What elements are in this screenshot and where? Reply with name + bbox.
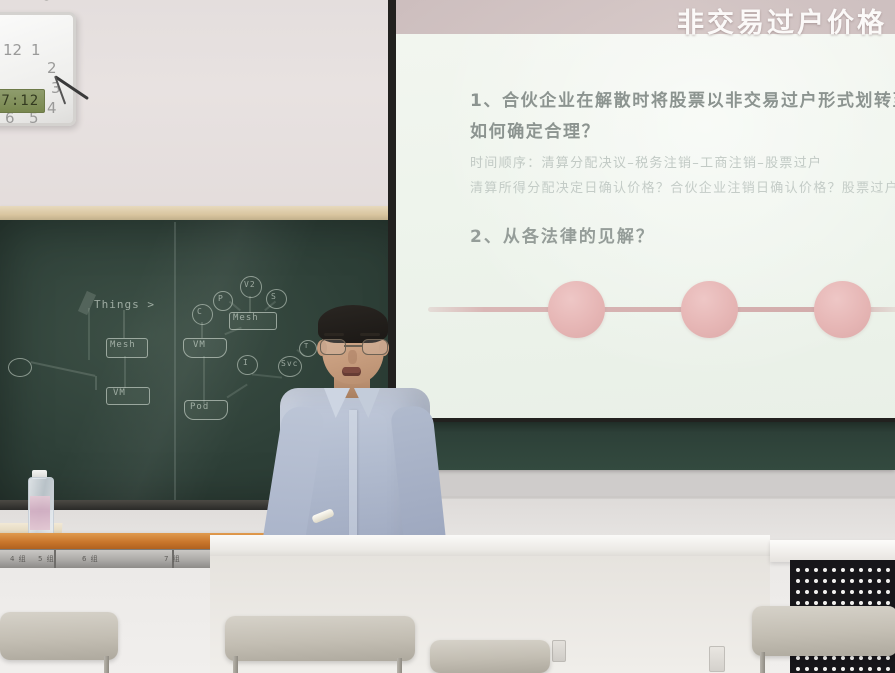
chalk-node-v2-label: V2	[244, 280, 256, 289]
chalk-stroke-2	[88, 308, 90, 360]
mesh-dot	[886, 579, 890, 583]
mesh-dot	[868, 579, 872, 583]
mesh-dot	[796, 590, 800, 594]
screen-glare	[396, 0, 895, 418]
timeline-node-1	[548, 281, 605, 338]
mesh-dot	[850, 579, 854, 583]
mesh-dot	[868, 590, 872, 594]
mesh-dot	[877, 590, 881, 594]
mesh-dot	[850, 590, 854, 594]
mesh-dot	[850, 568, 854, 572]
mesh-dot	[805, 590, 809, 594]
podium-rail-label-2: 5 组	[38, 554, 55, 564]
chair-center-leg-left	[233, 656, 238, 673]
mesh-dot	[814, 601, 818, 605]
clock-digital-display: 17:12	[0, 89, 45, 113]
podium-rail-label-1: 4 组	[10, 554, 27, 564]
chair-right-far[interactable]	[430, 640, 550, 673]
mesh-dot	[859, 601, 863, 605]
mesh-dot	[832, 568, 836, 572]
chair-left-back	[0, 612, 118, 660]
chalk-box-mesh-right-label: Mesh	[233, 313, 259, 323]
chair-left[interactable]	[0, 612, 120, 673]
slide-bullet-1-line-1: 1、合伙企业在解散时将股票以非交易过户形式划转至各合伙人	[470, 86, 895, 117]
timeline-node-3	[814, 281, 871, 338]
presenter-mouth	[342, 367, 361, 376]
mesh-dot	[796, 568, 800, 572]
clock-number-1: 1	[31, 41, 41, 59]
podium-rail-label-3: 6 组	[82, 554, 99, 564]
mesh-dot	[850, 601, 854, 605]
chair-center[interactable]	[225, 616, 415, 673]
chalk-node-p-right-label: P	[218, 294, 224, 303]
chalk-node-s-left	[8, 358, 32, 377]
mesh-dot	[814, 579, 818, 583]
chalk-connector-10	[203, 356, 205, 404]
chair-right-far-back	[430, 640, 550, 673]
mesh-dot	[823, 568, 827, 572]
mesh-dot	[841, 579, 845, 583]
chair-right[interactable]	[752, 606, 895, 673]
blackboard-divider	[174, 222, 176, 508]
mesh-dot	[805, 601, 809, 605]
wall-outlet-2[interactable]	[709, 646, 725, 672]
mesh-dot	[859, 568, 863, 572]
chalk-box-mesh-left-label: Mesh	[110, 340, 136, 350]
wall-outlet-1[interactable]	[552, 640, 566, 662]
mesh-dot	[796, 579, 800, 583]
chalk-node-i-label: I	[243, 358, 249, 367]
wall-clock: 12 1 2 3 4 5 6 17:12	[0, 12, 76, 126]
slide-subnote-1: 时间顺序：清算分配决议–税务注销–工商注销–股票过户	[470, 152, 822, 171]
mesh-dot	[877, 601, 881, 605]
mesh-dot	[832, 601, 836, 605]
mesh-dot	[841, 568, 845, 572]
presenter-brow-left	[324, 333, 344, 336]
chair-right-leg	[760, 652, 765, 673]
presenter-hair	[318, 305, 388, 343]
chalk-connector-1	[123, 310, 125, 338]
chair-center-leg-right	[397, 658, 402, 673]
mesh-dot	[877, 579, 881, 583]
mesh-dot	[823, 579, 827, 583]
chair-center-back	[225, 616, 415, 661]
chair-left-leg	[104, 656, 109, 673]
slide-bullet-1-line-2: 如何确定合理？	[470, 117, 600, 142]
mesh-dot	[841, 601, 845, 605]
mesh-dot	[832, 590, 836, 594]
mesh-dot	[886, 568, 890, 572]
chalk-node-c-label: C	[197, 307, 203, 316]
slide-bullet-2: 2、从各法律的见解？	[470, 222, 655, 247]
presenter-nose	[348, 350, 357, 364]
glasses-lens-right	[362, 339, 388, 355]
mesh-dot	[805, 568, 809, 572]
bottle-label	[30, 496, 50, 530]
mesh-dot	[868, 568, 872, 572]
chalk-box-vm-right-label: VM	[193, 340, 206, 350]
podium-rail-label-4: 7 组	[164, 554, 181, 564]
timeline-node-2	[681, 281, 738, 338]
mesh-dot	[886, 601, 890, 605]
projection-screen: 非交易过户价格 1、合伙企业在解散时将股票以非交易过户形式划转至各合伙人 如何确…	[396, 0, 895, 418]
clock-number-2: 2	[47, 59, 57, 77]
chalk-connector-5	[249, 296, 251, 313]
mesh-dot	[805, 579, 809, 583]
chalk-connector-2	[124, 356, 126, 388]
chalk-box-pod-label: Pod	[190, 402, 209, 412]
chalk-box-vm-left-label: VM	[113, 388, 126, 398]
presenter-brow-right	[360, 333, 380, 336]
chalk-connector-8	[201, 322, 203, 338]
mesh-dot	[886, 590, 890, 594]
slide-title-band: 非交易过户价格	[396, 0, 895, 34]
mesh-dot	[823, 590, 827, 594]
mesh-dot	[859, 579, 863, 583]
slide-title: 非交易过户价格	[677, 1, 887, 40]
clock-number-12: 12	[3, 41, 22, 59]
clock-number-4: 4	[47, 99, 57, 117]
mesh-dot	[814, 568, 818, 572]
mesh-dot	[832, 579, 836, 583]
blackboard-right-strip	[418, 420, 895, 470]
slide-subnote-2: 清算所得分配决定日确认价格？合伙企业注销日确认价格？股票过户	[470, 177, 895, 196]
mesh-dot	[814, 590, 818, 594]
glasses-bridge	[344, 345, 362, 347]
mesh-dot	[823, 601, 827, 605]
chair-right-back	[752, 606, 895, 656]
mesh-dot	[841, 590, 845, 594]
mesh-dot	[796, 601, 800, 605]
mesh-dot	[859, 590, 863, 594]
glasses-lens-left	[320, 339, 346, 355]
side-desk-top	[770, 540, 895, 562]
chalk-node-s-right-label: S	[271, 292, 277, 301]
mesh-dot	[877, 568, 881, 572]
classroom-photo: Things > Mesh VM V2 P S Mesh C VM Pod I …	[0, 0, 895, 673]
chalk-connector-4	[95, 376, 97, 390]
mesh-dot	[868, 601, 872, 605]
